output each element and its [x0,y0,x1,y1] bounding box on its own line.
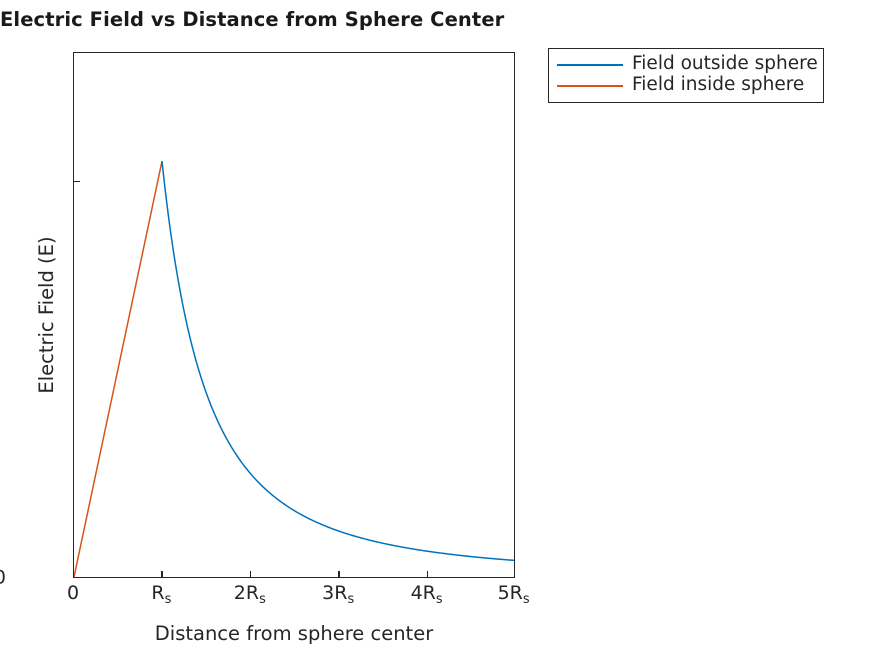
x-tick-label-5: 5Rs [498,584,530,607]
x-tick-mark [250,571,251,578]
x-tick-mark [161,571,162,578]
legend-entry-outside[interactable]: Field outside sphere [557,54,815,75]
series-line-inside-sphere [74,161,162,577]
x-tick-mark [427,571,428,578]
figure-canvas: Electric Field vs Distance from Sphere C… [0,0,874,655]
legend-label-inside: Field inside sphere [632,76,804,95]
x-tick-label-1: Rs [151,584,171,607]
x-tick-label-sub: s [347,592,354,607]
x-tick-label-sub: s [165,592,172,607]
y-axis-label: Electric Field (E) [32,52,62,578]
x-tick-label-text: 3R [322,582,347,604]
x-tick-label-text: 2R [234,582,259,604]
x-tick-label-4: 4Rs [411,584,443,607]
x-tick-mark [514,571,515,578]
y-tick-mark [73,181,80,182]
x-tick-label-3: 3Rs [322,584,354,607]
x-tick-label-0: 0 [67,584,79,607]
x-tick-label-sub: s [523,592,530,607]
legend-line-swatch-outside [557,64,623,66]
chart-title: Electric Field vs Distance from Sphere C… [0,8,530,31]
x-tick-label-text: 0 [67,582,79,604]
x-axis-label: Distance from sphere center [73,622,515,645]
x-tick-label-sub: s [259,592,266,607]
plot-svg [74,53,514,577]
y-tick-label-0: 0 [0,569,6,588]
legend: Field outside sphere Field inside sphere [548,48,824,103]
x-tick-label-2: 2Rs [234,584,266,607]
x-tick-mark [338,571,339,578]
legend-line-swatch-inside [557,85,623,87]
y-tick-mark [73,577,80,578]
x-tick-label-text: R [151,582,164,604]
plot-area [73,52,515,578]
legend-label-outside: Field outside sphere [632,55,818,74]
x-tick-label-sub: s [436,592,443,607]
series-line-outside-sphere [162,161,514,560]
x-tick-label-text: 4R [411,582,436,604]
legend-entry-inside[interactable]: Field inside sphere [557,75,815,96]
x-tick-label-text: 5R [498,582,523,604]
